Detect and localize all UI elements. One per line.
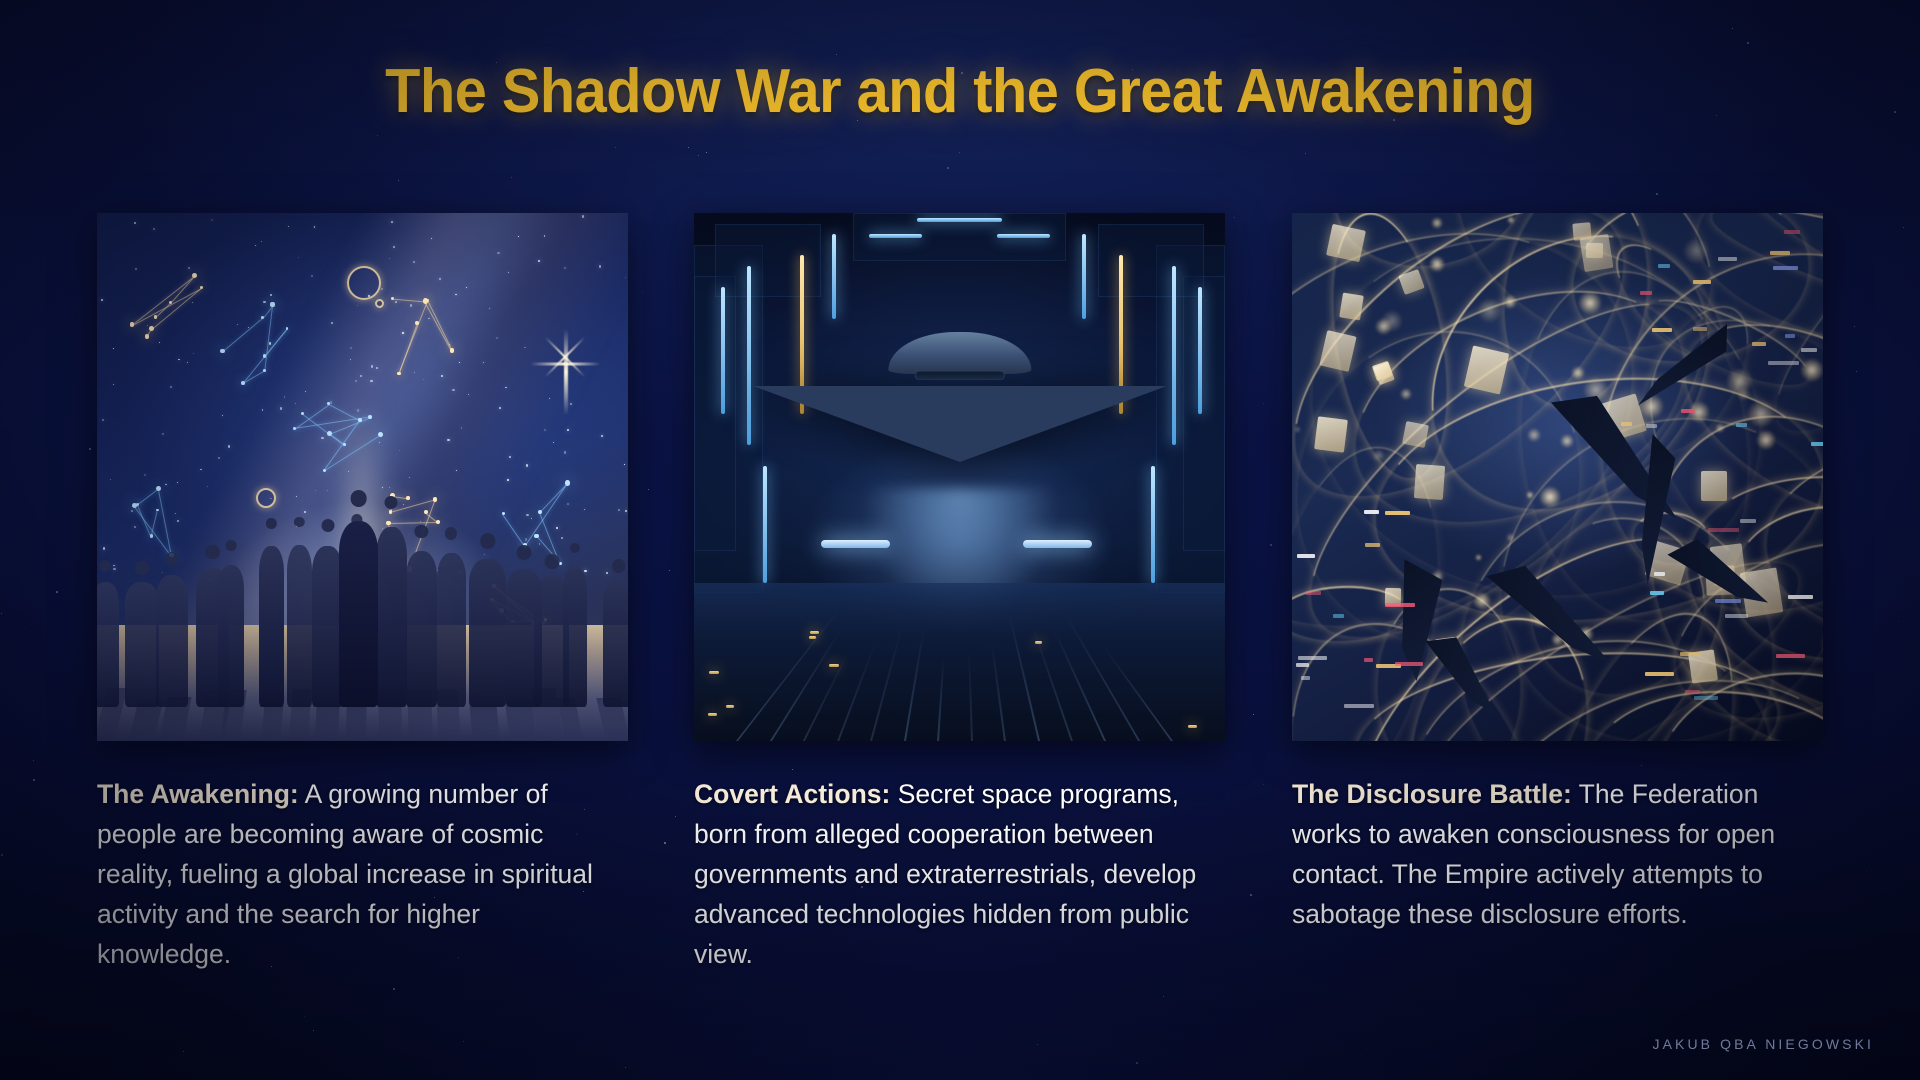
caption-awakening: The Awakening: A growing number of peopl… xyxy=(97,774,609,974)
hangar-craft-image xyxy=(694,213,1225,741)
slide-canvas: The Shadow War and the Great Awakening T… xyxy=(0,0,1920,1080)
data-streams-image xyxy=(1292,213,1823,741)
column-covert-actions: Covert Actions: Secret space programs, b… xyxy=(694,213,1225,974)
caption-lead: Covert Actions: xyxy=(694,779,890,809)
page-title: The Shadow War and the Great Awakening xyxy=(67,56,1853,127)
column-disclosure-battle: The Disclosure Battle: The Federation wo… xyxy=(1292,213,1823,934)
caption-lead: The Disclosure Battle: xyxy=(1292,779,1572,809)
caption-lead: The Awakening: xyxy=(97,779,299,809)
column-awakening: The Awakening: A growing number of peopl… xyxy=(97,213,628,974)
caption-disclosure-battle: The Disclosure Battle: The Federation wo… xyxy=(1292,774,1804,934)
constellations-crowd-image xyxy=(97,213,628,741)
author-watermark: JAKUB QBA NIEGOWSKI xyxy=(1653,1036,1875,1052)
caption-covert-actions: Covert Actions: Secret space programs, b… xyxy=(694,774,1206,974)
